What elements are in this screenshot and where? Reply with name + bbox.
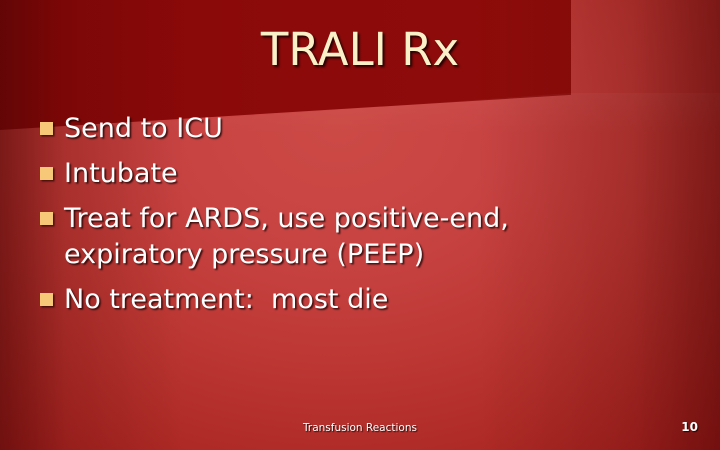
slide-footer-label: Transfusion Reactions	[0, 421, 720, 435]
slide-title: TRALI Rx	[0, 22, 720, 78]
list-item: No treatment: most die	[40, 282, 630, 318]
slide-page-number: 10	[681, 420, 698, 434]
square-bullet-icon	[40, 122, 53, 135]
square-bullet-icon	[40, 167, 53, 180]
presentation-slide: TRALI Rx Send to ICU Intubate Treat for …	[0, 0, 720, 450]
square-bullet-icon	[40, 212, 53, 225]
list-item-label: Send to ICU	[64, 111, 630, 147]
list-item: Intubate	[40, 156, 630, 192]
square-bullet-icon	[40, 293, 53, 306]
bullet-list: Send to ICU Intubate Treat for ARDS, use…	[40, 111, 630, 327]
list-item-label: No treatment: most die	[64, 282, 630, 318]
list-item-label: Treat for ARDS, use positive-end, expira…	[64, 201, 630, 273]
list-item: Treat for ARDS, use positive-end, expira…	[40, 201, 630, 273]
list-item: Send to ICU	[40, 111, 630, 147]
list-item-label: Intubate	[64, 156, 630, 192]
